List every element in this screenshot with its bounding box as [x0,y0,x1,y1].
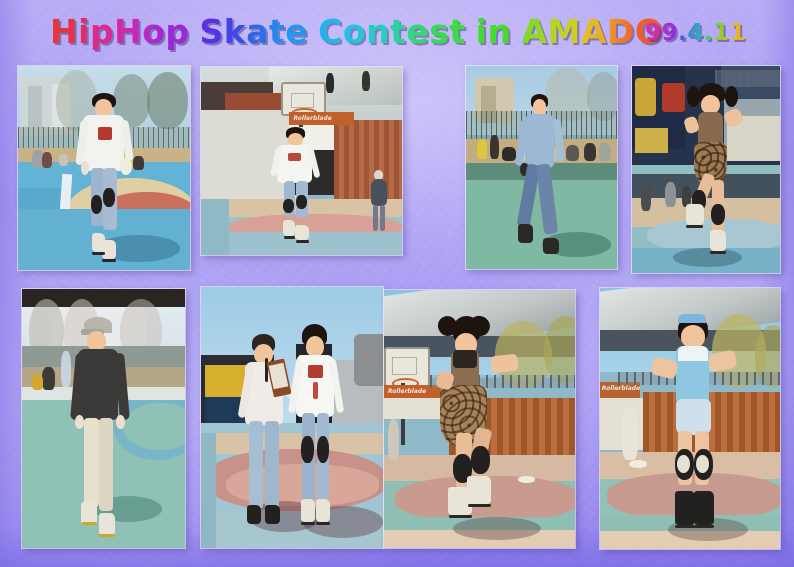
title-letter: o [142,12,165,51]
title-letter: A [521,12,547,51]
title-letter: 1 [730,20,747,46]
title-letter: . [704,20,713,46]
title-letter: 4 [687,20,704,46]
rollerblade-banner-text: Rollerblade [293,115,331,122]
title-letter: e [285,12,308,51]
title-letter: 9 [645,20,662,46]
title-letter: s [429,12,449,51]
photo-girl-blue-top-arms-out[interactable]: Rollerblade [600,288,780,549]
title-letter: p [90,12,114,51]
title-letter: D [607,12,635,51]
rollerblade-banner-text-3: Rollerblade [602,385,640,392]
photo-skater-near-rollerblade-banner[interactable]: Rollerblade [201,67,402,255]
title-letter: 1 [713,20,730,46]
title-letter: t [390,12,406,51]
photo-skater-blue-jacket-green-court[interactable] [466,66,617,269]
page-title: HipHopSkateContestinAMADO [50,12,663,51]
title-letter: t [269,12,285,51]
title-letter: A [581,12,607,51]
title-letter: i [476,12,488,51]
title-band: HipHopSkateContestinAMADO 99.4.11 [0,0,794,60]
title-letter: . [678,20,687,46]
photo-skater-cap-dark-sweater[interactable] [22,289,185,548]
title-letter: p [165,12,189,51]
title-letter: a [246,12,269,51]
title-letter: H [50,12,78,51]
photo-skater-white-tshirt-blue-court[interactable] [18,66,190,270]
title-letter: k [224,12,246,51]
title-letter: o [343,12,366,51]
photo-girl-leopard-dress-spinning[interactable]: Rollerblade [384,290,575,548]
rollerblade-banner-text-2: Rollerblade [388,388,426,395]
photo-girl-leopard-dress-jumping[interactable] [632,66,780,273]
title-letter: t [449,12,465,51]
collage-page: HipHopSkateContestinAMADO 99.4.11 [0,0,794,567]
photo-judge-interviewing-skater[interactable] [201,287,383,548]
event-date: 99.4.11 [645,20,746,46]
title-letter: M [548,12,581,51]
title-letter: n [487,12,511,51]
title-letter: i [78,12,90,51]
title-letter: e [406,12,429,51]
title-letter: 9 [662,20,679,46]
title-letter: C [318,12,343,51]
title-letter: H [114,12,142,51]
title-letter: n [366,12,390,51]
title-letter: S [199,12,223,51]
